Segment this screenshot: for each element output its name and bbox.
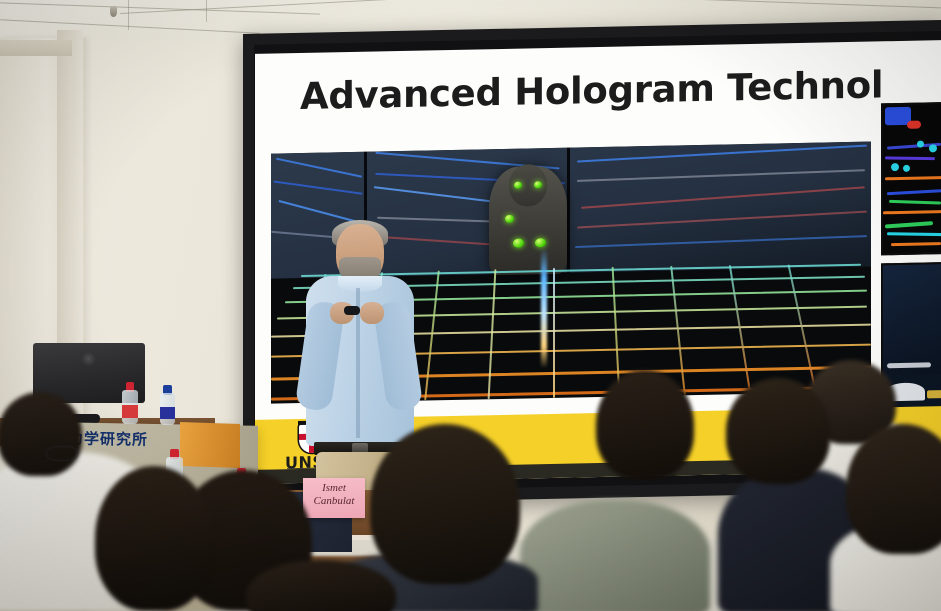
water-bottle-red-cap — [122, 382, 138, 424]
namecard-line2: Canbulat — [303, 495, 365, 508]
monitor-logo-icon — [81, 351, 96, 366]
point-cloud-element — [903, 165, 910, 172]
namecard-ismet-canbulat: Ismet Canbulat — [303, 478, 365, 518]
holo-wire-panel — [573, 142, 871, 273]
grid-line-v — [788, 264, 817, 391]
point-cloud-element — [929, 144, 937, 152]
water-bottle-blue-label — [160, 385, 175, 425]
ceiling-grid-line — [128, 0, 129, 30]
equipment-bar — [887, 362, 931, 368]
namecard-line1: Ismet — [303, 482, 365, 495]
point-cloud-element — [887, 232, 941, 236]
presentation-clicker — [344, 306, 360, 315]
conference-photo-scene: Advanced Hologram Technol — [0, 0, 941, 611]
point-cloud-element — [885, 156, 935, 160]
audience-member-body — [520, 500, 710, 611]
audience-member-head — [726, 378, 830, 484]
audience-member-head — [95, 466, 213, 611]
equipment-dark-area — [883, 264, 941, 375]
wall-beam — [0, 40, 72, 56]
grid-line-v — [729, 265, 751, 393]
sprinkler-head-icon — [110, 6, 117, 17]
bottle-label — [122, 405, 138, 418]
point-cloud-element — [885, 221, 933, 228]
grid-line-v — [553, 268, 555, 398]
presenter-right-hand — [360, 302, 384, 324]
audience-member-head — [596, 370, 694, 480]
presenter-collar — [338, 276, 382, 292]
green-marker-icon — [505, 215, 514, 223]
point-cloud-element — [883, 210, 941, 214]
motion-capture-subject — [489, 166, 567, 276]
point-cloud-element — [889, 200, 941, 205]
grid-line-v — [424, 271, 439, 401]
point-cloud-element — [907, 121, 921, 129]
lidar-point-cloud-panel — [881, 102, 941, 255]
audience-glasses — [46, 446, 78, 461]
podium-side-box — [180, 422, 240, 468]
point-cloud-element — [887, 189, 941, 195]
slide-title: Advanced Hologram Technol — [300, 63, 883, 118]
blue-light-beam — [541, 248, 547, 368]
point-cloud-element — [885, 176, 941, 180]
equipment-accent — [927, 390, 941, 398]
green-marker-icon — [513, 239, 524, 248]
audience-member-head — [370, 424, 520, 584]
grid-line-v — [488, 269, 496, 399]
grid-line-v — [670, 266, 685, 395]
point-cloud-element — [891, 163, 899, 171]
audience-member-head — [0, 392, 82, 476]
ceiling-grid-line — [206, 0, 207, 22]
point-cloud-element — [891, 242, 941, 246]
green-marker-icon — [535, 238, 546, 247]
bottle-label — [160, 407, 175, 419]
